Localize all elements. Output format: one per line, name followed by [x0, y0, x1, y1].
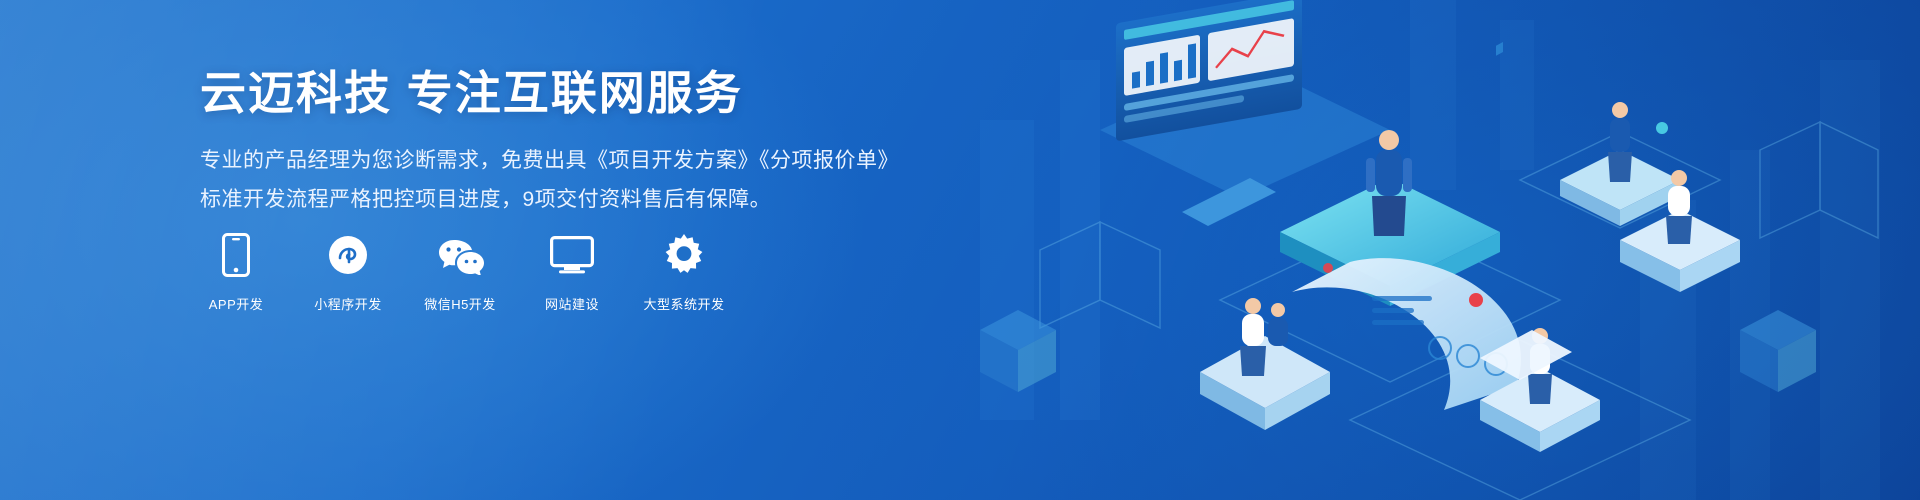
- service-label: 大型系统开发: [644, 294, 725, 313]
- hero-copy: 云迈科技 专注互联网服务 专业的产品经理为您诊断需求，免费出具《项目开发方案》《…: [200, 66, 960, 219]
- subtitle-line-2: 标准开发流程严格把控项目进度，9项交付资料售后有保障。: [200, 182, 960, 219]
- isometric-illustration: [920, 0, 1920, 500]
- platform-bottom-left: [1200, 298, 1330, 430]
- dashboard-screen: [1100, 0, 1390, 226]
- monitor-icon: [550, 232, 594, 278]
- service-item-large-system[interactable]: 大型系统开发: [646, 232, 722, 313]
- service-item-wechat-h5[interactable]: 微信H5开发: [422, 232, 498, 313]
- service-item-app[interactable]: APP开发: [198, 232, 274, 313]
- service-label: APP开发: [209, 294, 264, 313]
- service-label: 微信H5开发: [424, 294, 496, 313]
- subtitle-line-1: 专业的产品经理为您诊断需求，免费出具《项目开发方案》《分项报价单》: [200, 143, 960, 180]
- service-item-mini-program[interactable]: 小程序开发: [310, 232, 386, 313]
- mobile-phone-icon: [222, 232, 250, 278]
- hero-banner: 云迈科技 专注互联网服务 专业的产品经理为您诊断需求，免费出具《项目开发方案》《…: [0, 0, 1920, 500]
- page-title: 云迈科技 专注互联网服务: [200, 66, 960, 121]
- gear-icon: [663, 232, 705, 278]
- wechat-icon: [436, 232, 484, 278]
- service-label: 小程序开发: [314, 294, 382, 313]
- service-list: APP开发 小程序开发: [198, 232, 722, 313]
- service-label: 网站建设: [545, 294, 599, 313]
- service-item-website[interactable]: 网站建设: [534, 232, 610, 313]
- mini-program-icon: [328, 232, 368, 278]
